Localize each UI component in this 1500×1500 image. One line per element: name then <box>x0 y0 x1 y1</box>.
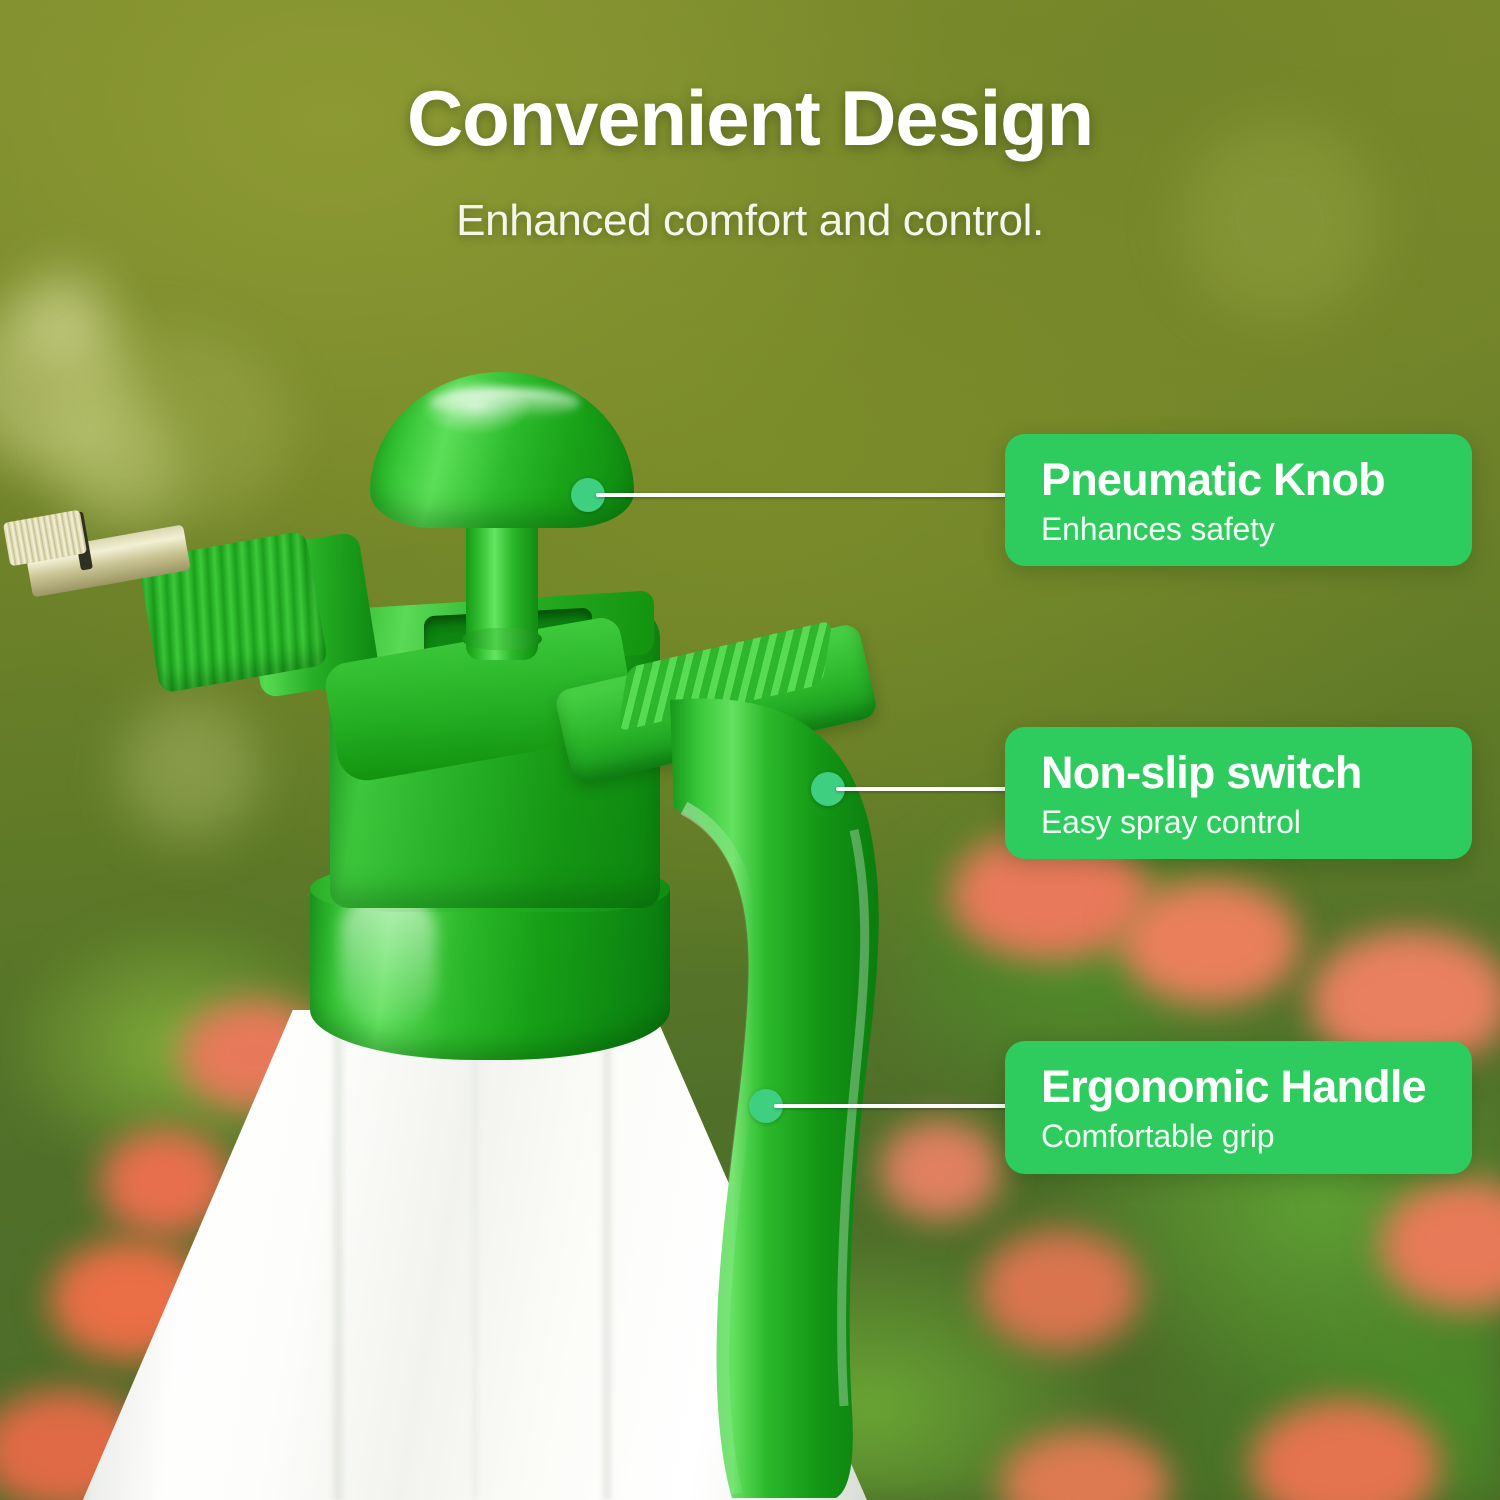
callout-card-non-slip-switch[interactable]: Non-slip switch Easy spray control <box>1005 727 1472 859</box>
bottle-collar-highlight <box>340 892 436 1024</box>
callout-subtitle-ergonomic-handle: Comfortable grip <box>1041 1118 1442 1155</box>
callout-title-non-slip-switch: Non-slip switch <box>1041 749 1442 798</box>
switch-leader-line <box>836 787 1008 791</box>
callout-subtitle-pneumatic-knob: Enhances safety <box>1041 511 1442 548</box>
infographic-canvas: Convenient Design Enhanced comfort and c… <box>0 0 1500 1500</box>
bottle-crease-2 <box>600 1030 614 1500</box>
handle-leader-line <box>774 1104 1008 1108</box>
ergonomic-handle <box>640 690 940 1500</box>
pump-knob-highlight <box>430 388 580 418</box>
bottle-crease-3 <box>470 1060 480 1500</box>
pump-knob-stem-ring <box>462 628 542 650</box>
bottle-crease-1 <box>330 1020 346 1500</box>
callout-card-ergonomic-handle[interactable]: Ergonomic Handle Comfortable grip <box>1005 1041 1472 1174</box>
callout-card-pneumatic-knob[interactable]: Pneumatic Knob Enhances safety <box>1005 434 1472 566</box>
callout-subtitle-non-slip-switch: Easy spray control <box>1041 804 1442 841</box>
knob-leader-line <box>596 493 1008 497</box>
callout-title-ergonomic-handle: Ergonomic Handle <box>1041 1063 1442 1112</box>
callout-title-pneumatic-knob: Pneumatic Knob <box>1041 456 1442 505</box>
